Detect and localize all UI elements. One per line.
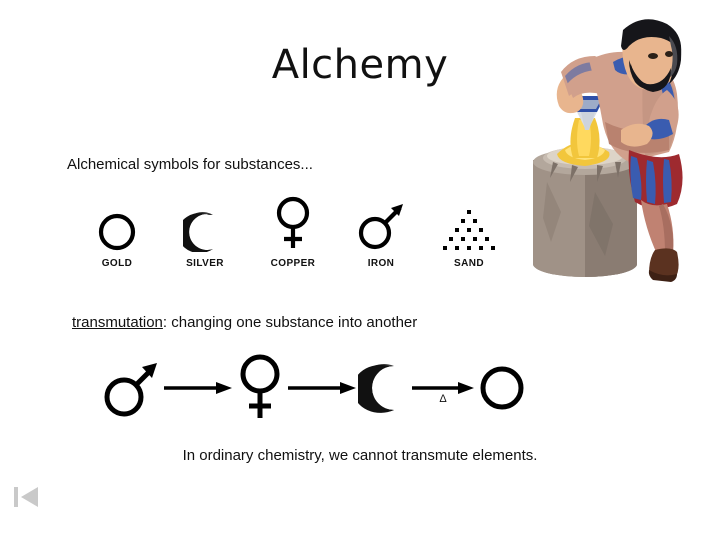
reaction-arrow-2 bbox=[286, 377, 358, 399]
symbol-cell-sand: SAND bbox=[430, 196, 508, 269]
reaction-arrow-3-annotation: Δ bbox=[439, 393, 446, 405]
symbol-label-iron: IRON bbox=[368, 258, 395, 269]
symbol-cell-copper: COPPER bbox=[254, 196, 332, 269]
transmutation-text: changing one substance into another bbox=[171, 314, 417, 331]
subtitle-text: Alchemical symbols for substances... bbox=[67, 156, 313, 173]
mars-symbol-iron bbox=[355, 196, 407, 252]
symbol-cell-gold: GOLD bbox=[78, 196, 156, 269]
reaction-arrow-3: Δ bbox=[410, 377, 476, 399]
circle-symbol-gold bbox=[95, 196, 139, 252]
symbol-label-gold: GOLD bbox=[102, 258, 133, 269]
chain-crescent-moon-symbol-silver bbox=[358, 360, 410, 416]
chain-circle-symbol-gold bbox=[476, 362, 528, 414]
alchemical-symbol-row: GOLD SILVER COPPER bbox=[78, 196, 508, 269]
closing-text: In ordinary chemistry, we cannot transmu… bbox=[0, 447, 720, 464]
transmutation-definition: transmutation: changing one substance in… bbox=[72, 314, 417, 331]
symbol-cell-silver: SILVER bbox=[166, 196, 244, 269]
dot-triangle-symbol-sand bbox=[442, 196, 496, 252]
reaction-arrow-1 bbox=[162, 377, 234, 399]
symbol-label-copper: COPPER bbox=[271, 258, 316, 269]
alchemist-illustration bbox=[517, 12, 717, 288]
slide-canvas: Alchemy Alchemical symbols for substance… bbox=[0, 0, 720, 540]
previous-slide-button[interactable] bbox=[10, 481, 44, 513]
symbol-label-sand: SAND bbox=[454, 258, 484, 269]
crescent-moon-symbol-silver bbox=[183, 196, 227, 252]
symbol-label-silver: SILVER bbox=[186, 258, 224, 269]
transmutation-reaction-chain: Δ bbox=[100, 352, 532, 424]
transmutation-term: transmutation bbox=[72, 314, 163, 331]
chain-mars-symbol-iron bbox=[100, 357, 162, 419]
chain-venus-symbol-copper bbox=[234, 352, 286, 424]
transmutation-separator: : bbox=[163, 314, 171, 331]
skip-to-start-icon bbox=[10, 481, 44, 513]
symbol-cell-iron: IRON bbox=[342, 196, 420, 269]
venus-symbol-copper bbox=[271, 196, 315, 252]
